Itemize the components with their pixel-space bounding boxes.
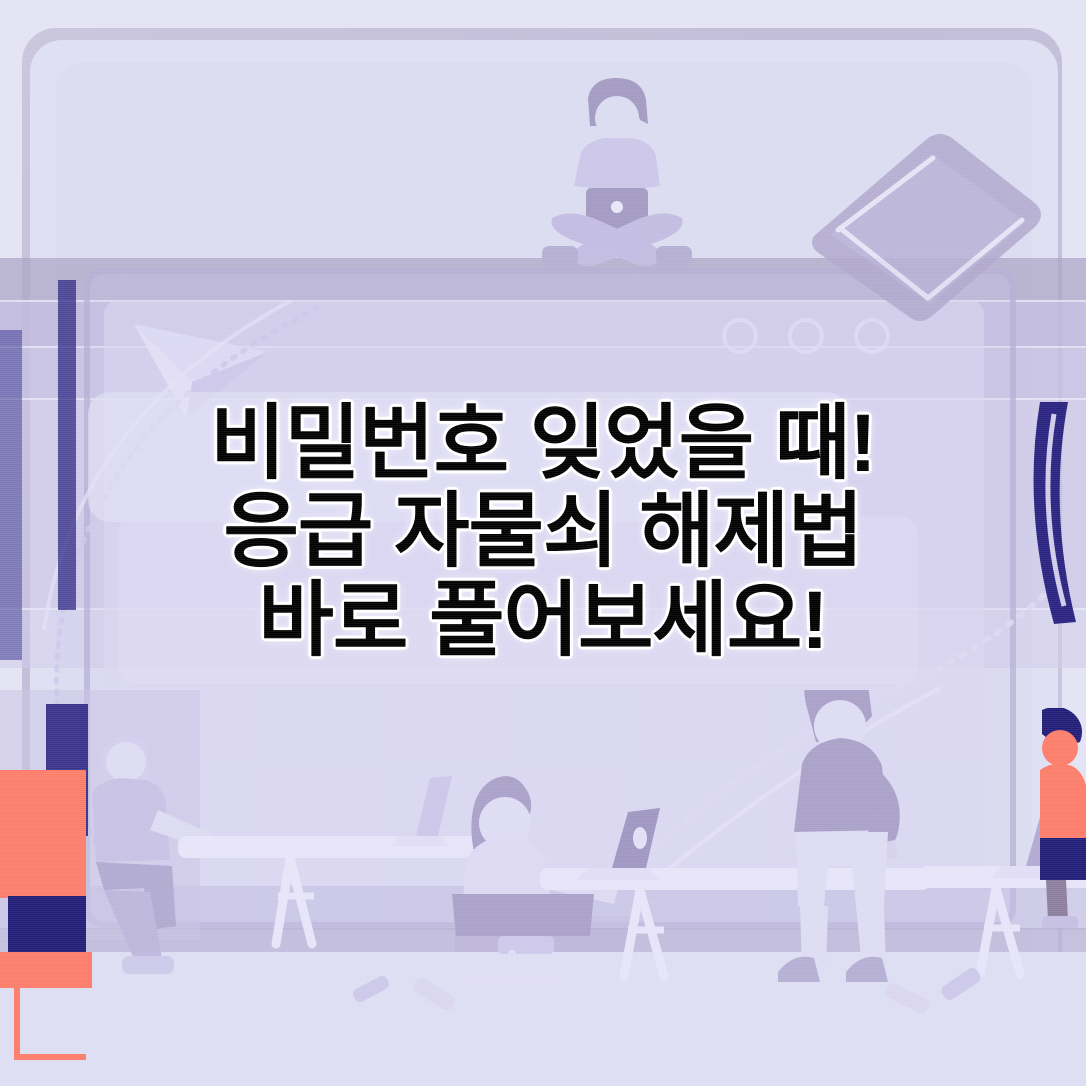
person-laptop-icon [500, 70, 730, 285]
graduation-cap-icon [800, 118, 1050, 368]
coral-block-accent-1 [0, 770, 86, 898]
headline-line-1: 비밀번호 잊었을 때! [0, 404, 1086, 484]
thumbnail-canvas: 비밀번호 잊었을 때! 응급 자물쇠 해제법 바로 풀어보세요! [0, 0, 1086, 1086]
coral-line-accent-h [14, 1054, 86, 1060]
headline-line-2: 응급 자물쇠 해제법 [0, 492, 1086, 572]
headline: 비밀번호 잊었을 때! 응급 자물쇠 해제법 바로 풀어보세요! [0, 404, 1086, 669]
coral-block-accent-2 [0, 952, 92, 988]
person-icon-right-edge [1040, 708, 1086, 928]
headline-line-3: 바로 풀어보세요! [0, 581, 1086, 661]
coral-line-accent-v [14, 988, 20, 1060]
browser-dot-icon-1 [722, 318, 758, 354]
navy-block-accent-2 [8, 896, 86, 960]
office-scene [0, 690, 1086, 1086]
